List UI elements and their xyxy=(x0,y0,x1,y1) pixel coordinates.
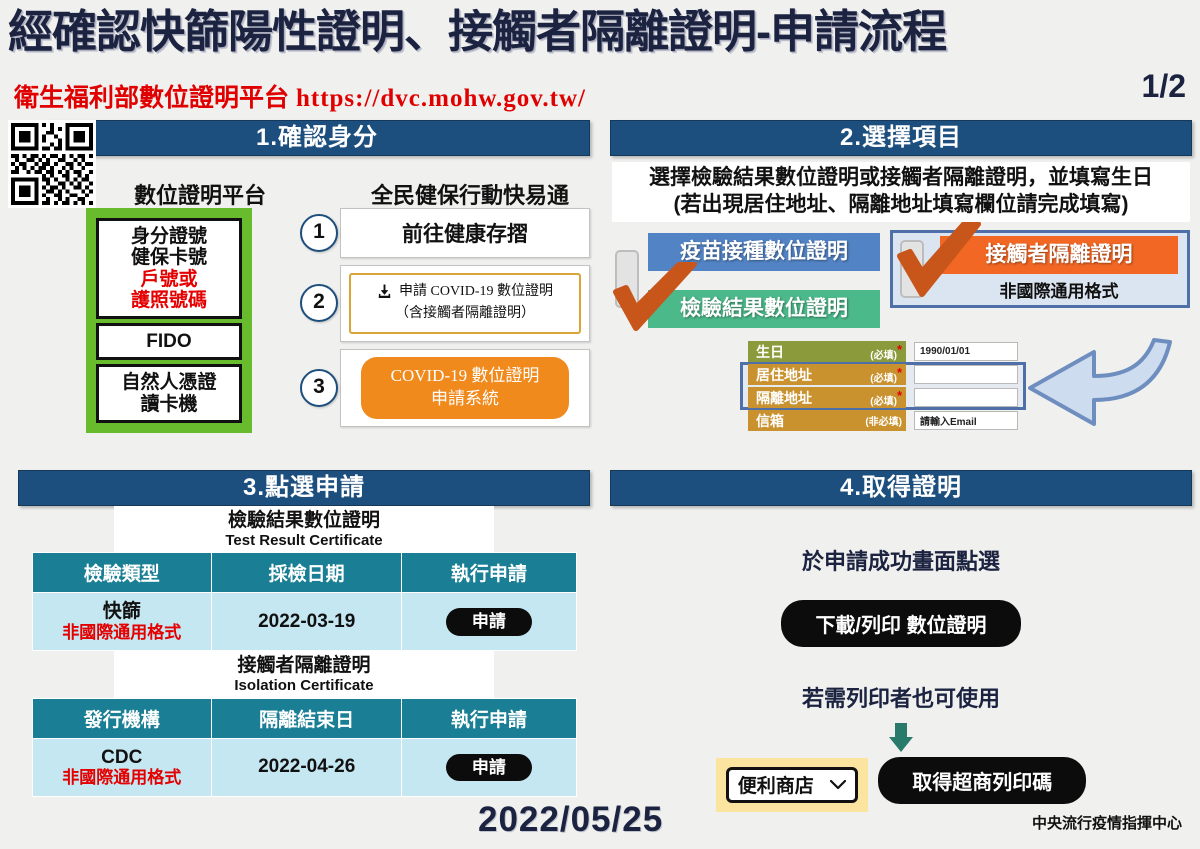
test-result-table: 檢驗類型 採檢日期 執行申請 快篩 非國際通用格式 2022-03-19 申請 xyxy=(32,552,577,651)
section-2-heading: 2.選擇項目 xyxy=(610,120,1192,156)
step-row-3: 3 COVID-19 數位證明 申請系統 xyxy=(300,349,590,427)
cell-isolation-end-date: 2022-04-26 xyxy=(212,738,402,796)
step-number-1: 1 xyxy=(300,214,338,252)
subtitle-org: 衛生福利部數位證明平台 xyxy=(14,84,289,112)
label-email-req: (非必填) xyxy=(865,413,902,428)
step-1-box[interactable]: 前往健康存摺 xyxy=(340,208,590,258)
citizen-card-line-2: 讀卡機 xyxy=(101,394,237,415)
col-action: 執行申請 xyxy=(402,553,576,593)
page-number: 1/2 xyxy=(1142,68,1186,105)
label-isolation-req: (必填)* xyxy=(870,388,902,407)
step-row-1: 1 前往健康存摺 xyxy=(300,208,590,258)
nhi-app-steps: 1 前往健康存摺 2 申請 COVID-19 數位證明 xyxy=(300,208,590,434)
label-birthday-text: 生日 xyxy=(756,342,784,362)
platform-url[interactable]: https://dvc.mohw.gov.tw/ xyxy=(296,85,586,112)
apply-button-test[interactable]: 申請 xyxy=(446,608,532,636)
label-isolation-text: 隔離地址 xyxy=(756,388,812,408)
label-email: 信箱 (非必填) xyxy=(748,410,906,431)
download-icon xyxy=(377,284,392,300)
col-isolation-end-date: 隔離結束日 xyxy=(212,698,402,738)
store-select-highlight: 便利商店 xyxy=(716,758,868,812)
step-3-box[interactable]: COVID-19 數位證明 申請系統 xyxy=(340,349,590,427)
store-select[interactable]: 便利商店 xyxy=(726,767,858,803)
issuer-sub: 非國際通用格式 xyxy=(33,768,212,788)
step-3-line-2: 申請系統 xyxy=(365,388,565,411)
step-number-3: 3 xyxy=(300,369,338,407)
page-title: 經確認快篩陽性證明、接觸者隔離證明-申請流程 xyxy=(8,8,1192,55)
step-1-label: 前往健康存摺 xyxy=(402,218,528,248)
chevron-down-icon xyxy=(830,780,846,790)
curved-arrow-icon xyxy=(1020,338,1180,448)
label-residence-text: 居住地址 xyxy=(756,365,812,385)
step-2-line-1: 申請 COVID-19 數位證明 xyxy=(399,281,553,303)
test-type-sub: 非國際通用格式 xyxy=(33,623,212,643)
identity-method-citizen-card[interactable]: 自然人憑證 讀卡機 xyxy=(96,364,242,423)
section-4-get-certificate: 4.取得證明 於申請成功畫面點選 下載/列印 數位證明 若需列印者也可使用 便利… xyxy=(610,470,1192,812)
form-row-email: 信箱 (非必填) 請輸入Email xyxy=(748,410,1018,431)
section-3-click-apply: 3.點選申請 檢驗結果數位證明 Test Result Certificate … xyxy=(18,470,590,797)
input-residence-address[interactable] xyxy=(914,365,1018,384)
step-2-line-2: （含接觸者隔離證明） xyxy=(355,303,575,325)
apply-button-isolation[interactable]: 申請 xyxy=(446,754,532,782)
label-birthday: 生日 (必填)* xyxy=(748,341,906,362)
isolation-caption-en: Isolation Certificate xyxy=(114,677,494,694)
cell-action: 申請 xyxy=(402,738,576,796)
table-row: 快篩 非國際通用格式 2022-03-19 申請 xyxy=(32,593,576,651)
col-sample-date: 採檢日期 xyxy=(212,553,402,593)
label-email-text: 信箱 xyxy=(756,411,784,431)
col-issuer: 發行機構 xyxy=(32,698,212,738)
cell-action: 申請 xyxy=(402,593,576,651)
col-test-type: 檢驗類型 xyxy=(32,553,212,593)
cell-sample-date: 2022-03-19 xyxy=(212,593,402,651)
input-birthday[interactable]: 1990/01/01 xyxy=(914,342,1018,361)
cell-test-type: 快篩 非國際通用格式 xyxy=(32,593,212,651)
form-row-isolation-address: 隔離地址 (必填)* xyxy=(748,387,1018,408)
download-print-button[interactable]: 下載/列印 數位證明 xyxy=(781,600,1020,647)
section-2-desc-line-2: (若出現居住地址、隔離地址填寫欄位請完成填寫) xyxy=(612,192,1190,219)
store-select-value: 便利商店 xyxy=(738,771,814,798)
isolation-table-caption: 接觸者隔離證明 Isolation Certificate xyxy=(114,651,494,697)
table-header-row: 發行機構 隔離結束日 執行申請 xyxy=(32,698,576,738)
get-store-print-code-button[interactable]: 取得超商列印碼 xyxy=(878,757,1086,804)
qr-code-image xyxy=(11,123,93,205)
step-2-box[interactable]: 申請 COVID-19 數位證明 （含接觸者隔離證明） xyxy=(340,265,590,342)
citizen-card-line-1: 自然人憑證 xyxy=(101,372,237,393)
footer-organization: 中央流行疫情指揮中心 xyxy=(1032,812,1182,833)
issuer-main: CDC xyxy=(33,747,212,769)
checkmark-icon-isolation xyxy=(896,222,982,304)
section-1-identity: 1.確認身分 xyxy=(44,120,590,156)
fido-label: FIDO xyxy=(101,331,237,352)
checkmark-icon-left xyxy=(612,262,698,340)
form-row-birthday: 生日 (必填)* 1990/01/01 xyxy=(748,341,1018,362)
section-4-heading: 4.取得證明 xyxy=(610,470,1192,506)
section-3-heading: 3.點選申請 xyxy=(18,470,590,506)
qr-code[interactable] xyxy=(8,120,96,208)
subtitle: 衛生福利部數位證明平台 https://dvc.mohw.gov.tw/ xyxy=(14,78,586,114)
isolation-caption-zh: 接觸者隔離證明 xyxy=(114,655,494,677)
input-isolation-address[interactable] xyxy=(914,388,1018,407)
col-action: 執行申請 xyxy=(402,698,576,738)
section-2-select-items: 2.選擇項目 xyxy=(610,120,1192,156)
cell-issuer: CDC 非國際通用格式 xyxy=(32,738,212,796)
identity-method-id[interactable]: 身分證號 健保卡號 戶號或 護照號碼 xyxy=(96,218,242,319)
identity-method-fido[interactable]: FIDO xyxy=(96,323,242,360)
id-line-1: 身分證號 xyxy=(101,226,237,247)
covid-cert-system-button[interactable]: COVID-19 數位證明 申請系統 xyxy=(361,357,569,419)
label-residence-req: (必填)* xyxy=(870,365,902,384)
infographic-page: 經確認快篩陽性證明、接觸者隔離證明-申請流程 衛生福利部數位證明平台 https… xyxy=(0,0,1200,849)
id-line-3: 戶號或 xyxy=(101,269,237,290)
label-residence-address: 居住地址 (必填)* xyxy=(748,364,906,385)
section-4-line-1: 於申請成功畫面點選 xyxy=(610,544,1192,576)
down-arrow-icon xyxy=(886,723,916,753)
identity-method-group: 身分證號 健保卡號 戶號或 護照號碼 FIDO 自然人憑證 讀卡機 xyxy=(86,208,252,433)
test-type-main: 快篩 xyxy=(33,601,212,623)
step-3-line-1: COVID-19 數位證明 xyxy=(365,365,565,388)
table-row: CDC 非國際通用格式 2022-04-26 申請 xyxy=(32,738,576,796)
id-line-2: 健保卡號 xyxy=(101,247,237,268)
test-result-table-caption: 檢驗結果數位證明 Test Result Certificate xyxy=(114,506,494,552)
test-result-caption-zh: 檢驗結果數位證明 xyxy=(114,510,494,532)
label-birthday-req: (必填)* xyxy=(870,342,902,361)
form-row-residence-address: 居住地址 (必填)* xyxy=(748,364,1018,385)
application-form: 生日 (必填)* 1990/01/01 居住地址 (必填)* 隔離地址 (必填)… xyxy=(748,341,1018,433)
section-4-line-2: 若需列印者也可使用 xyxy=(610,681,1192,713)
step-row-2: 2 申請 COVID-19 數位證明 （含接觸者隔離證明） xyxy=(300,265,590,342)
section-2-desc-line-1: 選擇檢驗結果數位證明或接觸者隔離證明，並填寫生日 xyxy=(612,165,1190,192)
test-result-caption-en: Test Result Certificate xyxy=(114,532,494,549)
platform-column-title: 數位證明平台 xyxy=(110,178,290,210)
footer-date: 2022/05/25 xyxy=(478,800,663,840)
section-2-description: 選擇檢驗結果數位證明或接觸者隔離證明，並填寫生日 (若出現居住地址、隔離地址填寫… xyxy=(612,162,1190,222)
label-isolation-address: 隔離地址 (必填)* xyxy=(748,387,906,408)
nhi-app-column-title: 全民健保行動快易通 xyxy=(330,178,610,210)
apply-covid-cert-link[interactable]: 申請 COVID-19 數位證明 （含接觸者隔離證明） xyxy=(349,273,581,334)
table-header-row: 檢驗類型 採檢日期 執行申請 xyxy=(32,553,576,593)
step-number-2: 2 xyxy=(300,284,338,322)
id-line-4: 護照號碼 xyxy=(101,290,237,311)
section-1-heading: 1.確認身分 xyxy=(44,120,590,156)
input-email[interactable]: 請輸入Email xyxy=(914,411,1018,430)
isolation-table: 發行機構 隔離結束日 執行申請 CDC 非國際通用格式 2022-04-26 申… xyxy=(32,698,577,797)
